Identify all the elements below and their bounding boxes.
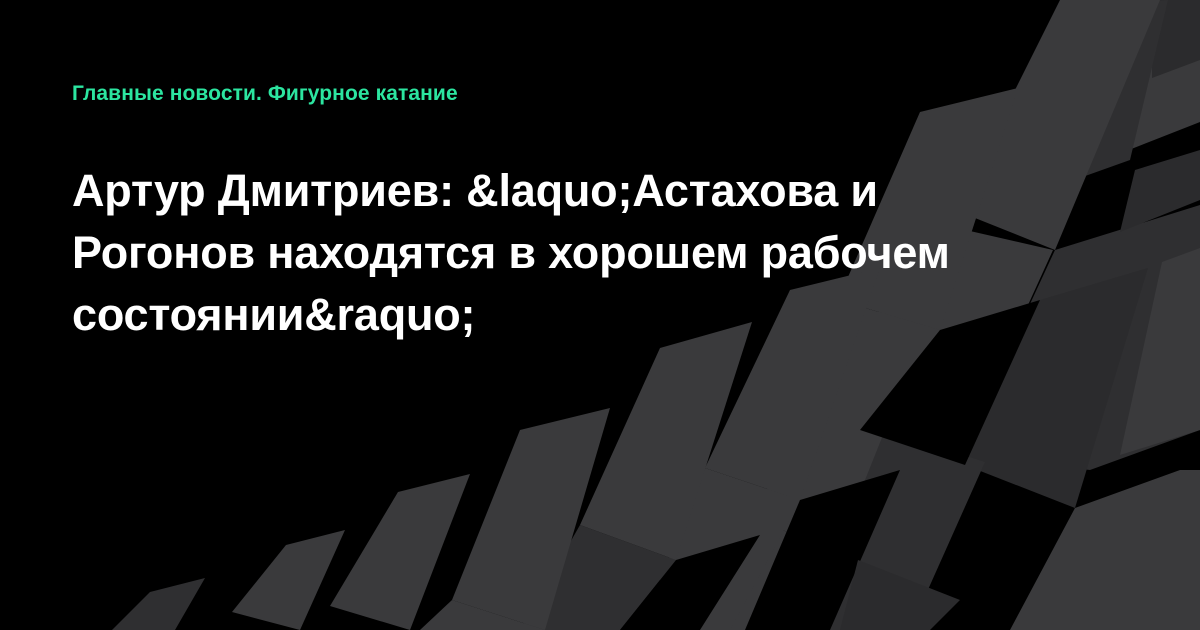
page-title: Артур Дмитриев: &laquo;Астахова и Рогоно…: [72, 160, 1082, 346]
category-kicker: Главные новости. Фигурное катание: [72, 80, 458, 108]
news-social-card: Главные новости. Фигурное катание Артур …: [0, 0, 1200, 630]
headline-line-3: состоянии&raquo;: [72, 284, 1082, 346]
headline-line-2: Рогонов находятся в хорошем рабочем: [72, 222, 1082, 284]
headline-line-1: Артур Дмитриев: &laquo;Астахова и: [72, 160, 1082, 222]
card-content: Главные новости. Фигурное катание Артур …: [0, 0, 1200, 630]
